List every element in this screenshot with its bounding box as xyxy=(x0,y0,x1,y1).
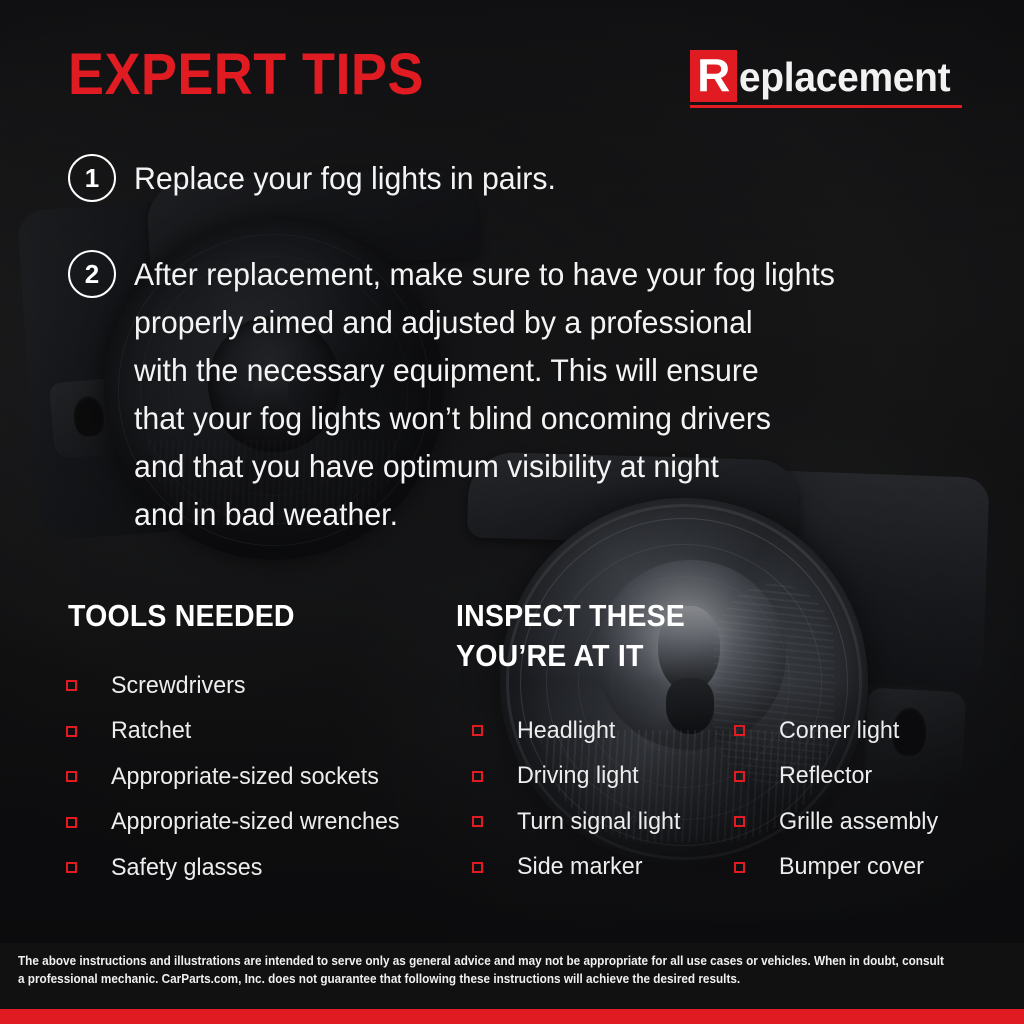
list-item-label: Corner light xyxy=(779,719,899,743)
checkbox-icon[interactable] xyxy=(472,725,483,736)
tip-text-2: After replacement, make sure to have you… xyxy=(134,250,835,538)
logo-wordmark: R eplacement xyxy=(690,50,962,102)
list-item: Headlight xyxy=(472,708,686,754)
inspect-checklist-column-2: Corner light Reflector Grille assembly B… xyxy=(734,708,943,890)
tip-item-1: 1 Replace your fog lights in pairs. xyxy=(68,154,573,202)
tools-needed-checklist: Screwdrivers Ratchet Appropriate-sized s… xyxy=(66,663,408,891)
inspect-these-heading: INSPECT THESE YOU’RE AT IT xyxy=(456,596,685,676)
tip-text-1: Replace your fog lights in pairs. xyxy=(134,154,556,202)
list-item-label: Bumper cover xyxy=(779,855,924,879)
list-item: Reflector xyxy=(734,754,943,800)
checkbox-icon[interactable] xyxy=(734,771,745,782)
list-item-label: Side marker xyxy=(517,855,642,879)
checkbox-icon[interactable] xyxy=(66,817,77,828)
list-item: Driving light xyxy=(472,754,686,800)
list-item: Side marker xyxy=(472,845,686,891)
checkbox-icon[interactable] xyxy=(66,862,77,873)
list-item-label: Grille assembly xyxy=(779,810,938,834)
list-item-label: Headlight xyxy=(517,719,615,743)
tools-needed-heading: TOOLS NEEDED xyxy=(68,596,295,636)
bottom-accent-bar xyxy=(0,1009,1024,1024)
list-item: Safety glasses xyxy=(66,845,408,891)
logo-initial-badge: R xyxy=(690,50,737,102)
list-item: Appropriate-sized sockets xyxy=(66,754,408,800)
replacement-brand-logo: R eplacement xyxy=(690,50,962,108)
checkbox-icon[interactable] xyxy=(472,771,483,782)
checkbox-icon[interactable] xyxy=(734,862,745,873)
list-item: Appropriate-sized wrenches xyxy=(66,800,408,846)
logo-wordmark-text: eplacement xyxy=(737,57,950,98)
tip-number-badge-2: 2 xyxy=(68,250,116,298)
list-item-label: Reflector xyxy=(779,764,872,788)
inspect-checklist-column-1: Headlight Driving light Turn signal ligh… xyxy=(472,708,686,890)
list-item: Screwdrivers xyxy=(66,663,408,709)
list-item: Corner light xyxy=(734,708,943,754)
list-item: Ratchet xyxy=(66,709,408,755)
list-item-label: Safety glasses xyxy=(111,856,262,880)
list-item: Bumper cover xyxy=(734,845,943,891)
infographic-content: EXPERT TIPS R eplacement 1 Replace your … xyxy=(0,0,1024,1024)
checkbox-icon[interactable] xyxy=(472,862,483,873)
list-item-label: Screwdrivers xyxy=(111,674,246,698)
footer-disclaimer: The above instructions and illustrations… xyxy=(18,952,947,988)
checkbox-icon[interactable] xyxy=(734,725,745,736)
list-item-label: Driving light xyxy=(517,764,639,788)
list-item-label: Ratchet xyxy=(111,719,191,743)
checkbox-icon[interactable] xyxy=(66,771,77,782)
checkbox-icon[interactable] xyxy=(66,680,77,691)
list-item: Grille assembly xyxy=(734,799,943,845)
list-item-label: Appropriate-sized sockets xyxy=(111,765,379,789)
list-item-label: Turn signal light xyxy=(517,810,680,834)
page-title: EXPERT TIPS xyxy=(68,46,424,104)
checkbox-icon[interactable] xyxy=(66,726,77,737)
list-item-label: Appropriate-sized wrenches xyxy=(111,810,400,834)
logo-underline-rule xyxy=(690,105,962,108)
tip-number-badge-1: 1 xyxy=(68,154,116,202)
list-item: Turn signal light xyxy=(472,799,686,845)
checkbox-icon[interactable] xyxy=(472,816,483,827)
infographic-canvas: ○○○ ○○○ EXPERT TIPS R eplacement 1 Repla… xyxy=(0,0,1024,1024)
tip-item-2: 2 After replacement, make sure to have y… xyxy=(68,250,864,538)
checkbox-icon[interactable] xyxy=(734,816,745,827)
